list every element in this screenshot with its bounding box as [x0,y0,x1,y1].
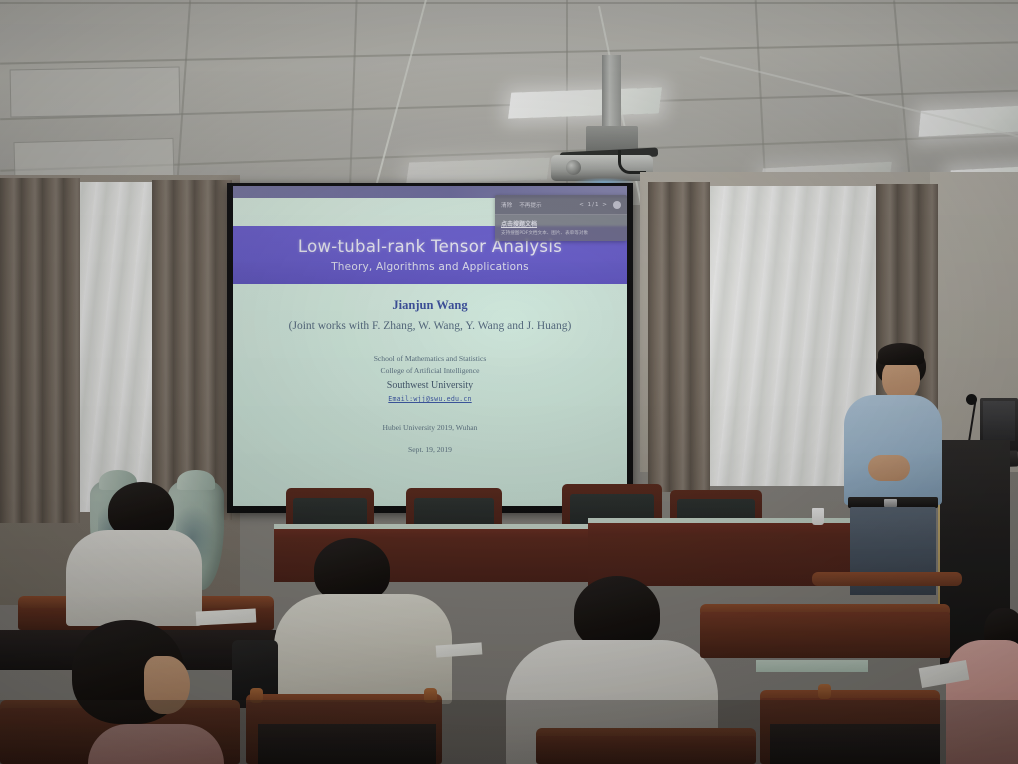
attendee-1-shirt [66,530,202,626]
attendee-4-hair [574,576,660,650]
overlay-dismiss-button[interactable]: 不再提示 [519,201,541,209]
presentation-slide: Low-tubal-rank Tensor Analysis Theory, A… [233,186,627,506]
attendee-2-hair [314,538,390,602]
presenter-hair-top [878,343,924,365]
slide-affiliation-2: College of Artificial Intelligence [233,366,627,375]
overlay-close-icon[interactable] [613,201,621,209]
slide-email: Email:wjj@swu.edu.cn [233,395,627,403]
curtain-left-inner [152,180,232,520]
slide-university: Southwest University [233,380,627,391]
attendee-white-shirt-left [66,482,206,622]
slide-body: Jianjun Wang (Joint works with F. Zhang,… [233,290,627,454]
presenter-shirt [844,395,942,505]
slide-venue: Hubei University 2019, Wuhan [233,423,627,432]
ceiling-light-mid-left [406,158,550,185]
projector-cable [618,150,646,174]
presenter [836,345,948,595]
overlay-clear-button[interactable]: 清除 [501,201,512,209]
ceiling-light-center [508,87,662,118]
attendee-cream-polo [268,538,458,698]
overlay-toolbar: 清除 不再提示 < 1/1 > [495,195,627,215]
slide-subtitle: Theory, Algorithms and Applications [331,261,529,273]
overlay-pager[interactable]: < 1/1 > [579,202,608,208]
lecture-hall-photo: Low-tubal-rank Tensor Analysis Theory, A… [0,0,1018,764]
overlay-link[interactable]: 点击搜题文档 [495,215,627,228]
presenter-hands [868,455,910,481]
presenter-belt-buckle [884,499,897,507]
desk-surface-right [756,660,868,672]
bench-row-right-mid-rail [812,572,962,586]
handout-paper-3 [436,642,483,657]
bench-knob-3 [818,684,831,699]
slide-affiliation-1: School of Mathematics and Statistics [233,354,627,363]
microphone-icon [966,394,977,405]
projector-mount-pole [602,55,621,133]
paper-cup [812,508,824,525]
curtain-right-inner [648,182,710,492]
curtain-left-outer [0,178,80,523]
laptop-screen [983,401,1015,441]
overlay-description: 支持搜图PDF文档文本、图片、表单等对象 [495,228,627,236]
slide-date: Sept. 19, 2019 [233,445,627,454]
bench-row-right-upper [700,612,950,658]
slide-joint-works: (Joint works with F. Zhang, W. Wang, Y. … [233,320,627,332]
projector-lens-icon [566,160,581,175]
slide-author: Jianjun Wang [233,298,627,313]
floor [0,700,1018,764]
pdf-reader-overlay[interactable]: 清除 不再提示 < 1/1 > 点击搜题文档 支持搜图PDF文档文本、图片、表单… [495,195,627,241]
ceiling-wire-left [374,0,428,189]
